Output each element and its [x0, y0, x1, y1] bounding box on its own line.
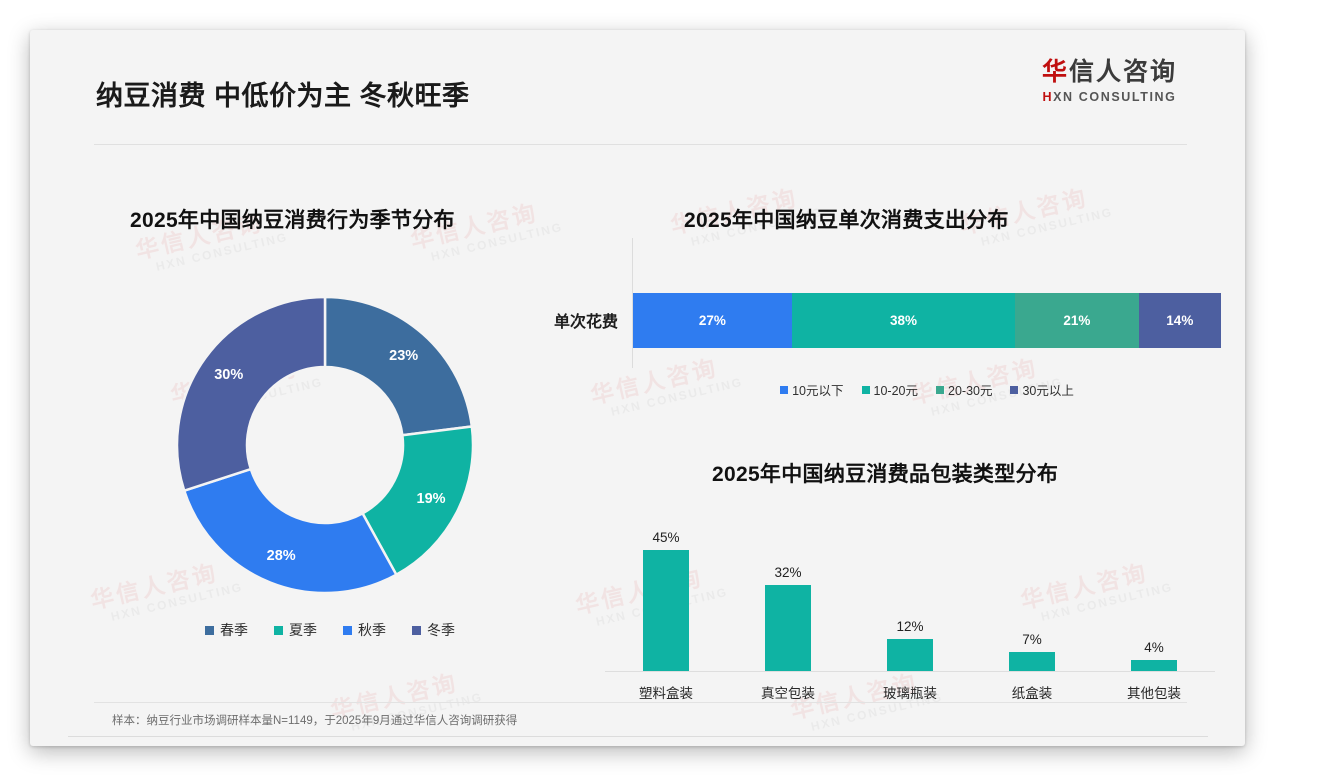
stacked-bar-chart: 单次花费 27%38%21%14% 10元以下10-20元20-30元30元以上: [530, 238, 1230, 418]
bar-category-其他包装: 其他包装: [1093, 682, 1215, 702]
bar-column-纸盒装: 7%: [971, 521, 1093, 671]
bar-chart-category-axis: 塑料盒装真空包装玻璃瓶装纸盒装其他包装: [605, 682, 1215, 702]
legend-swatch-icon: [205, 626, 214, 635]
legend-swatch-icon: [780, 386, 788, 394]
donut-legend-item-秋季[interactable]: 秋季: [343, 620, 386, 640]
bar-column-真空包装: 32%: [727, 521, 849, 671]
slide-card: 华信人咨询HXN CONSULTING 华信人咨询HXN CONSULTING …: [30, 30, 1245, 746]
donut-label-春季: 23%: [389, 348, 418, 364]
legend-swatch-icon: [412, 626, 421, 635]
legend-label: 20-30元: [948, 380, 992, 399]
stacked-segment-value: 14%: [1166, 313, 1193, 328]
stacked-legend-item-10-20元[interactable]: 10-20元: [862, 380, 918, 399]
legend-label: 10元以下: [792, 380, 843, 399]
legend-label: 冬季: [427, 620, 455, 640]
bar-value-label: 7%: [1022, 632, 1042, 647]
header-divider: [94, 144, 1187, 145]
bar-chart-bars: 45%32%12%7%4%: [605, 521, 1215, 671]
logo-en-rest: XN CONSULTING: [1053, 90, 1176, 104]
bar-chart-title: 2025年中国纳豆消费品包装类型分布: [712, 458, 1058, 488]
donut-legend-item-夏季[interactable]: 夏季: [274, 620, 317, 640]
watermark-en: HXN CONSULTING: [155, 230, 290, 274]
bar-column-玻璃瓶装: 12%: [849, 521, 971, 671]
stacked-segment-value: 38%: [890, 313, 917, 328]
stacked-legend: 10元以下10-20元20-30元30元以上: [633, 380, 1221, 399]
logo-cn-red: 华: [1042, 58, 1069, 86]
logo-en-red: H: [1042, 90, 1053, 104]
stacked-bar-track: 27%38%21%14%: [633, 293, 1221, 348]
bar-rect: [765, 585, 811, 671]
bar-chart-baseline: [605, 671, 1215, 672]
donut-legend-item-春季[interactable]: 春季: [205, 620, 248, 640]
donut-chart-title: 2025年中国纳豆消费行为季节分布: [130, 204, 455, 234]
bar-rect: [643, 550, 689, 672]
donut-chart: 23%19%28%30% 春季夏季秋季冬季: [130, 270, 530, 670]
bar-category-真空包装: 真空包装: [727, 682, 849, 702]
slide-header: 纳豆消费 中低价为主 冬秋旺季 华信人咨询 HXN CONSULTING: [30, 30, 1245, 122]
legend-label: 10-20元: [874, 380, 918, 399]
brand-logo: 华信人咨询 HXN CONSULTING: [1042, 58, 1177, 104]
bar-rect: [1131, 660, 1177, 671]
footnote-divider: [94, 702, 1187, 703]
page-title: 纳豆消费 中低价为主 冬秋旺季: [96, 74, 470, 113]
stacked-legend-item-10元以下[interactable]: 10元以下: [780, 380, 843, 399]
legend-label: 30元以上: [1022, 380, 1073, 399]
donut-slice-春季: [325, 297, 472, 435]
bar-value-label: 45%: [652, 530, 679, 545]
stacked-legend-item-20-30元[interactable]: 20-30元: [936, 380, 992, 399]
sample-footnote: 样本：纳豆行业市场调研样本量N=1149，于2025年9月通过华信人咨询调研获得: [112, 712, 517, 728]
bar-value-label: 12%: [896, 619, 923, 634]
bar-rect: [887, 639, 933, 671]
bar-rect: [1009, 652, 1055, 671]
bar-chart: 45%32%12%7%4% 塑料盒装真空包装玻璃瓶装纸盒装其他包装: [570, 508, 1230, 708]
legend-label: 夏季: [289, 620, 317, 640]
legend-swatch-icon: [1010, 386, 1018, 394]
donut-legend-item-冬季[interactable]: 冬季: [412, 620, 455, 640]
legend-swatch-icon: [274, 626, 283, 635]
stacked-segment-10-20元: 38%: [792, 293, 1015, 348]
bar-value-label: 4%: [1144, 640, 1164, 655]
stacked-segment-30元以上: 14%: [1139, 293, 1221, 348]
stacked-segment-20-30元: 21%: [1015, 293, 1138, 348]
bar-column-其他包装: 4%: [1093, 521, 1215, 671]
bar-category-塑料盒装: 塑料盒装: [605, 682, 727, 702]
stacked-category-label: 单次花费: [530, 308, 618, 332]
bar-value-label: 32%: [774, 565, 801, 580]
logo-chinese: 华信人咨询: [1042, 58, 1177, 87]
footer-divider: [68, 736, 1208, 737]
donut-label-秋季: 28%: [267, 548, 296, 564]
legend-swatch-icon: [862, 386, 870, 394]
bar-category-纸盒装: 纸盒装: [971, 682, 1093, 702]
donut-label-冬季: 30%: [214, 367, 243, 383]
legend-label: 秋季: [358, 620, 386, 640]
legend-swatch-icon: [936, 386, 944, 394]
logo-english: HXN CONSULTING: [1042, 90, 1177, 104]
stacked-segment-value: 21%: [1063, 313, 1090, 328]
donut-label-夏季: 19%: [417, 491, 446, 507]
donut-legend: 春季夏季秋季冬季: [130, 620, 530, 640]
logo-cn-rest: 信人咨询: [1069, 58, 1177, 86]
donut-svg: [170, 290, 480, 600]
stacked-legend-item-30元以上[interactable]: 30元以上: [1010, 380, 1073, 399]
bar-category-玻璃瓶装: 玻璃瓶装: [849, 682, 971, 702]
donut-slice-冬季: [177, 297, 325, 491]
bar-column-塑料盒装: 45%: [605, 521, 727, 671]
stacked-segment-value: 27%: [699, 313, 726, 328]
donut-slice-秋季: [184, 469, 396, 593]
stacked-chart-title: 2025年中国纳豆单次消费支出分布: [684, 204, 1009, 234]
legend-label: 春季: [220, 620, 248, 640]
stacked-segment-10元以下: 27%: [633, 293, 792, 348]
legend-swatch-icon: [343, 626, 352, 635]
